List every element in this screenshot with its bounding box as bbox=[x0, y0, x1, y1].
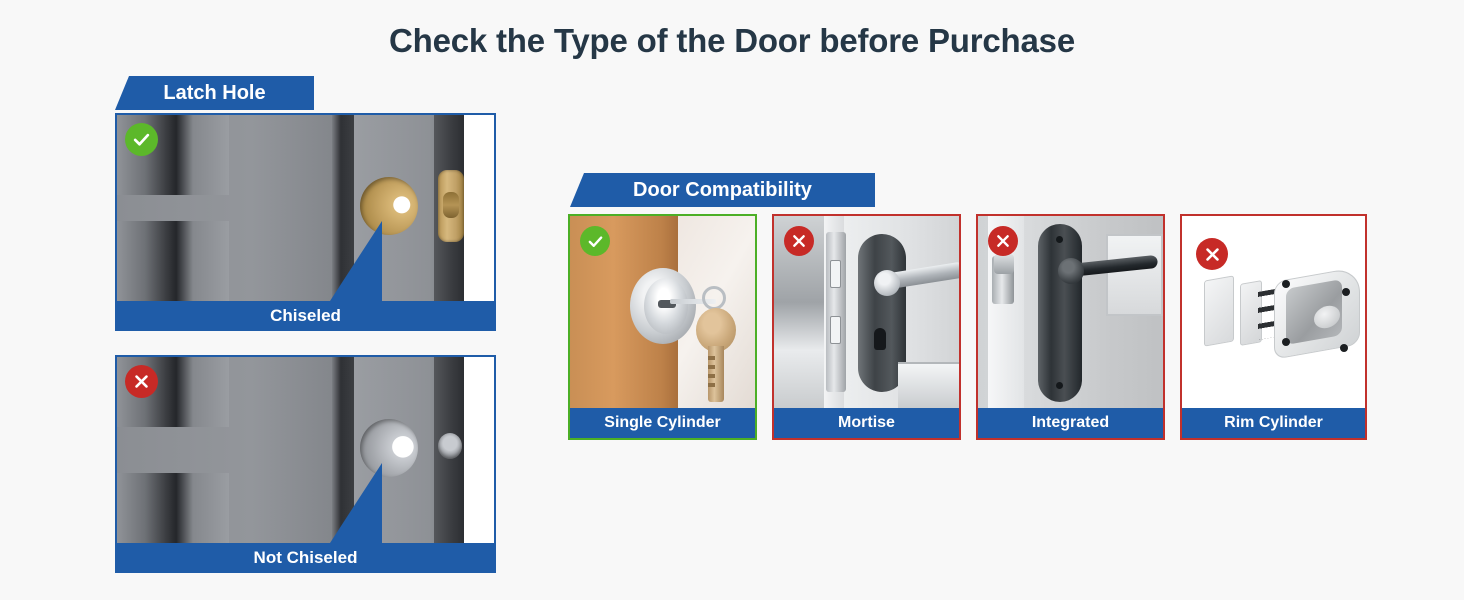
latch-card-not-chiseled[interactable]: Not Chiseled bbox=[115, 355, 496, 573]
status-badge-no bbox=[988, 226, 1018, 256]
compat-card-label: Rim Cylinder bbox=[1182, 408, 1365, 438]
faceplate-slot bbox=[830, 316, 841, 344]
screw-icon bbox=[1282, 280, 1290, 288]
key-blade bbox=[708, 346, 724, 402]
door-moulding-bottom bbox=[117, 473, 229, 543]
door-panel-moulding bbox=[898, 362, 959, 408]
latch-hole-ribbon-label: Latch Hole bbox=[163, 82, 265, 105]
lever-base bbox=[1058, 258, 1084, 284]
compat-card-label: Mortise bbox=[774, 408, 959, 438]
compat-card-mortise[interactable]: Mortise bbox=[772, 214, 961, 440]
lock-backplate bbox=[1038, 224, 1082, 402]
screw-icon bbox=[1056, 236, 1063, 243]
latch-photo-not-chiseled bbox=[117, 357, 494, 543]
keyhole-icon bbox=[874, 328, 886, 350]
latch-card-label: Chiseled bbox=[117, 301, 494, 331]
compat-card-integrated[interactable]: Integrated bbox=[976, 214, 1165, 440]
compat-card-rim-cylinder[interactable]: Rim Cylinder bbox=[1180, 214, 1367, 440]
status-badge-no bbox=[784, 226, 814, 256]
door-illustration bbox=[117, 115, 494, 301]
strike-plate-a bbox=[1204, 275, 1234, 346]
screw-icon bbox=[1342, 288, 1350, 296]
status-badge-ok bbox=[580, 226, 610, 256]
compat-card-single-cylinder[interactable]: Single Cylinder bbox=[568, 214, 757, 440]
latch-bolt bbox=[994, 254, 1014, 274]
latch-card-chiseled[interactable]: Chiseled bbox=[115, 113, 496, 331]
mortise-faceplate bbox=[826, 232, 846, 392]
lever-base bbox=[874, 270, 900, 296]
status-badge-no bbox=[1196, 238, 1228, 270]
compatibility-card-row: Single Cylinder Mortise bbox=[568, 214, 1373, 440]
door-compatibility-ribbon-label: Door Compatibility bbox=[633, 179, 812, 202]
faceplate-slot bbox=[830, 260, 841, 288]
screw-icon bbox=[1056, 382, 1063, 389]
pointer-arrow-icon bbox=[330, 463, 382, 543]
status-badge-no bbox=[125, 365, 158, 398]
background-white bbox=[464, 357, 494, 543]
page-title: Check the Type of the Door before Purcha… bbox=[0, 22, 1464, 60]
door-compatibility-ribbon: Door Compatibility bbox=[570, 173, 875, 207]
key-ring-icon bbox=[702, 286, 726, 310]
pointer-arrow-icon bbox=[330, 221, 382, 301]
latch-card-label: Not Chiseled bbox=[117, 543, 494, 573]
background-white bbox=[464, 115, 494, 301]
latch-photo-chiseled bbox=[117, 115, 494, 301]
status-badge-ok bbox=[125, 123, 158, 156]
unchiseled-latch-hole bbox=[438, 433, 462, 459]
compat-card-label: Single Cylinder bbox=[570, 408, 755, 438]
screw-icon bbox=[1340, 344, 1348, 352]
latch-hole-ribbon: Latch Hole bbox=[115, 76, 314, 110]
screw-icon bbox=[1282, 338, 1290, 346]
compat-card-label: Integrated bbox=[978, 408, 1163, 438]
door-panel-moulding bbox=[1106, 234, 1163, 316]
chiseled-latch-plate bbox=[438, 170, 464, 242]
door-moulding-bottom bbox=[117, 221, 229, 301]
door-illustration bbox=[117, 357, 494, 543]
